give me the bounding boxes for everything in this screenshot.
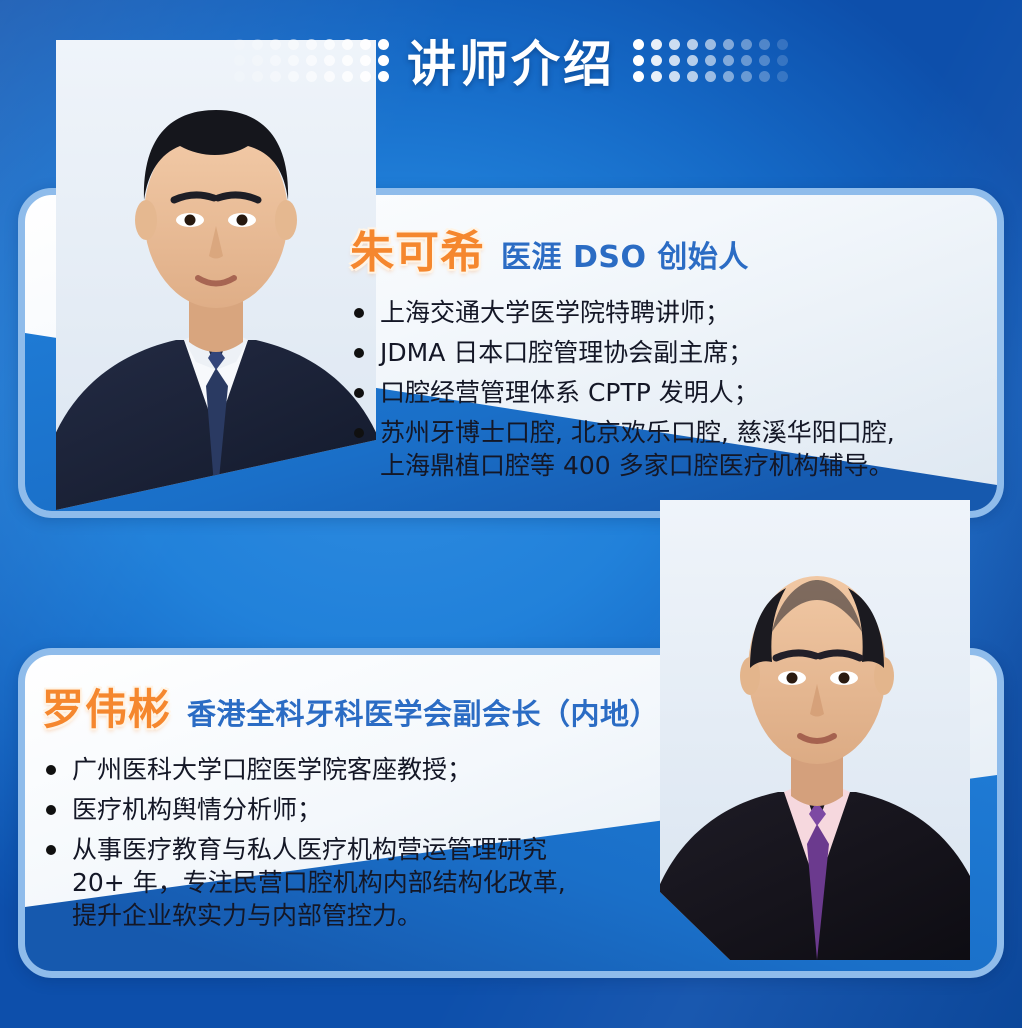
dot-icon: [759, 55, 770, 66]
dot-icon: [288, 71, 299, 82]
bullet-item: 医疗机构舆情分析师；: [42, 793, 742, 826]
dot-icon: [777, 55, 788, 66]
dot-icon: [741, 55, 752, 66]
dot-icon: [270, 39, 281, 50]
dot-icon: [759, 39, 770, 50]
dot-icon: [705, 71, 716, 82]
dot-icon: [306, 55, 317, 66]
dot-icon: [252, 71, 263, 82]
dot-icon: [342, 39, 353, 50]
speaker-2-name-row: 罗伟彬 香港全科牙科医学会副会长（内地）: [42, 676, 742, 737]
dot-icon: [288, 39, 299, 50]
bullet-item: 苏州牙博士口腔, 北京欢乐口腔, 慈溪华阳口腔, 上海鼎植口腔等 400 多家口…: [350, 416, 1000, 482]
dot-icon: [723, 39, 734, 50]
dot-icon: [378, 71, 389, 82]
dot-icon: [633, 55, 644, 66]
dot-icon: [741, 39, 752, 50]
dot-icon: [705, 39, 716, 50]
dot-row: [234, 55, 389, 66]
dot-icon: [360, 55, 371, 66]
dot-icon: [777, 39, 788, 50]
dot-icon: [324, 55, 335, 66]
dot-icon: [669, 71, 680, 82]
bullet-item: 口腔经营管理体系 CPTP 发明人；: [350, 376, 1000, 409]
dot-icon: [360, 39, 371, 50]
speaker-1-title: 医涯 DSO 创始人: [501, 232, 749, 276]
dot-icon: [651, 71, 662, 82]
dot-icon: [669, 55, 680, 66]
speaker-2-bullet-list: 广州医科大学口腔医学院客座教授；医疗机构舆情分析师；从事医疗教育与私人医疗机构营…: [42, 753, 742, 932]
bullet-item: 从事医疗教育与私人医疗机构营运管理研究 20+ 年，专注民营口腔机构内部结构化改…: [42, 833, 742, 932]
dot-icon: [270, 71, 281, 82]
dot-icon: [669, 39, 680, 50]
dot-icon: [306, 39, 317, 50]
dot-icon: [651, 55, 662, 66]
dot-row: [633, 71, 788, 82]
dot-icon: [777, 71, 788, 82]
dot-icon: [723, 55, 734, 66]
dot-icon: [741, 71, 752, 82]
dot-icon: [234, 39, 245, 50]
dot-icon: [705, 55, 716, 66]
speaker-1-info: 朱可希 医涯 DSO 创始人 上海交通大学医学院特聘讲师； JDMA 日本口腔管…: [350, 216, 1000, 489]
dot-icon: [687, 39, 698, 50]
dot-icon: [252, 39, 263, 50]
bullet-item: 上海交通大学医学院特聘讲师；: [350, 296, 1000, 329]
speaker-2-name: 罗伟彬: [42, 676, 171, 737]
dot-icon: [234, 71, 245, 82]
dot-icon: [234, 55, 245, 66]
page-title: 讲师介绍: [407, 25, 615, 96]
dot-row: [234, 71, 389, 82]
speaker-2-title: 香港全科牙科医学会副会长（内地）: [187, 691, 659, 733]
dot-icon: [633, 39, 644, 50]
dot-icon: [342, 71, 353, 82]
dot-row: [633, 55, 788, 66]
dot-icon: [324, 39, 335, 50]
dot-icon: [651, 39, 662, 50]
dot-row: [633, 39, 788, 50]
page-header: 讲师介绍: [0, 0, 1022, 120]
dot-icon: [378, 55, 389, 66]
dot-icon: [687, 55, 698, 66]
dot-icon: [759, 71, 770, 82]
dot-icon: [723, 71, 734, 82]
dot-icon: [306, 71, 317, 82]
dot-row: [234, 39, 389, 50]
dot-icon: [342, 55, 353, 66]
dot-icon: [360, 71, 371, 82]
dot-icon: [687, 71, 698, 82]
bullet-item: 广州医科大学口腔医学院客座教授；: [42, 753, 742, 786]
dot-icon: [324, 71, 335, 82]
decorative-dots-left-icon: [234, 39, 389, 82]
speaker-1-bullet-list: 上海交通大学医学院特聘讲师； JDMA 日本口腔管理协会副主席；口腔经营管理体系…: [350, 296, 1000, 482]
speaker-1-name-row: 朱可希 医涯 DSO 创始人: [350, 216, 1000, 280]
dot-icon: [288, 55, 299, 66]
bullet-item: JDMA 日本口腔管理协会副主席；: [350, 336, 1000, 369]
dot-icon: [378, 39, 389, 50]
dot-icon: [270, 55, 281, 66]
dot-icon: [633, 71, 644, 82]
decorative-dots-right-icon: [633, 39, 788, 82]
dot-icon: [252, 55, 263, 66]
speaker-1-name: 朱可希: [350, 216, 485, 280]
speaker-2-info: 罗伟彬 香港全科牙科医学会副会长（内地） 广州医科大学口腔医学院客座教授；医疗机…: [42, 676, 742, 939]
